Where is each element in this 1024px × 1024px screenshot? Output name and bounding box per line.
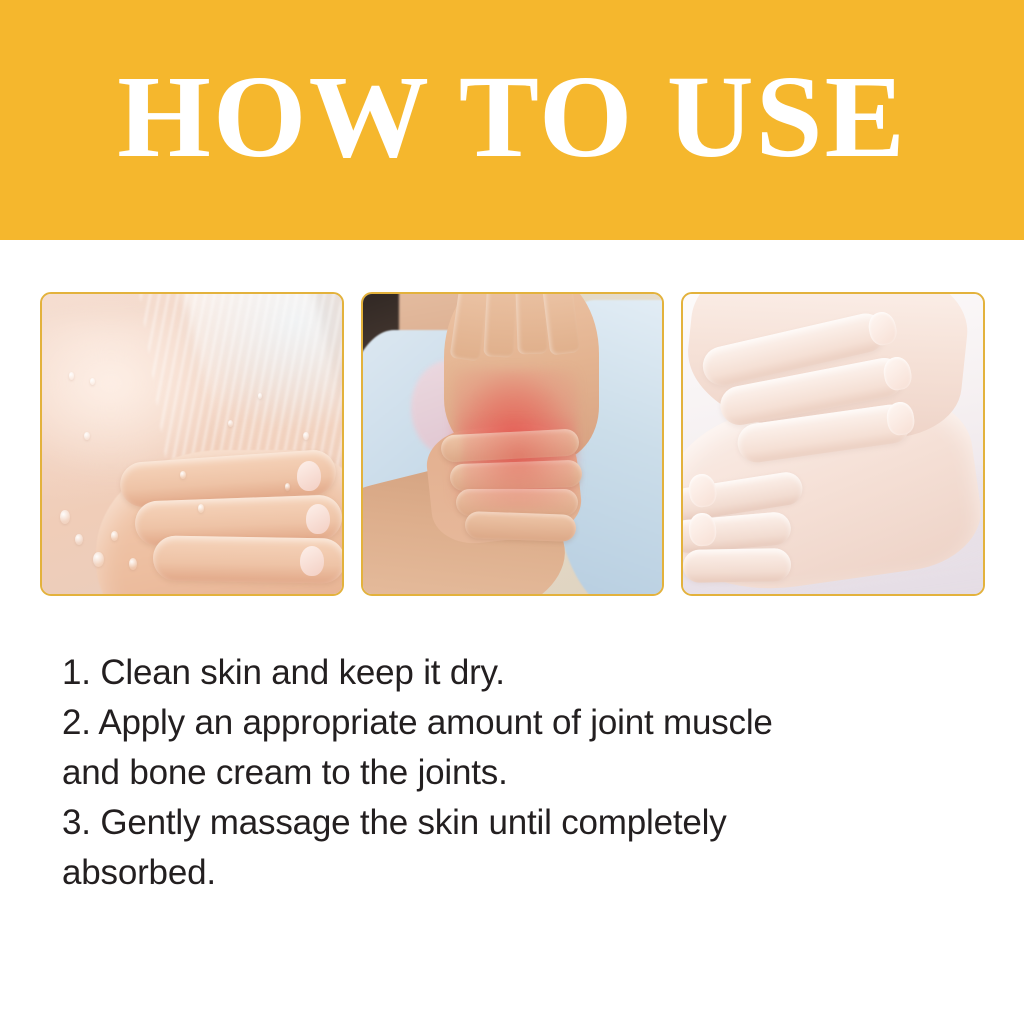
wrist-red-overlay [462, 420, 576, 510]
instruction-list: 1. Clean skin and keep it dry. 2. Apply … [62, 648, 962, 898]
instruction-line: and bone cream to the joints. [62, 748, 962, 798]
grip-finger-4 [464, 511, 576, 542]
photo-clean-skin-content [42, 294, 342, 594]
upper-finger-3 [514, 294, 547, 354]
upper-finger-2 [483, 294, 518, 358]
photo-massage-absorb-content [683, 294, 983, 594]
instruction-line: 3. Gently massage the skin until complet… [62, 798, 962, 848]
photo-painful-joint-content [363, 294, 663, 594]
water-droplets [42, 294, 342, 594]
instruction-line: 1. Clean skin and keep it dry. [62, 648, 962, 698]
header-banner: HOW TO USE [0, 0, 1024, 240]
page-title: HOW TO USE [117, 58, 907, 182]
photo-massage-absorb [681, 292, 985, 596]
lower-finger-3 [683, 548, 791, 583]
instruction-line: 2. Apply an appropriate amount of joint … [62, 698, 962, 748]
how-to-use-page: HOW TO USE [0, 0, 1024, 1024]
photo-gallery [40, 292, 985, 592]
photo-clean-skin [40, 292, 344, 596]
photo-painful-joint [361, 292, 665, 596]
instruction-line: absorbed. [62, 848, 962, 898]
